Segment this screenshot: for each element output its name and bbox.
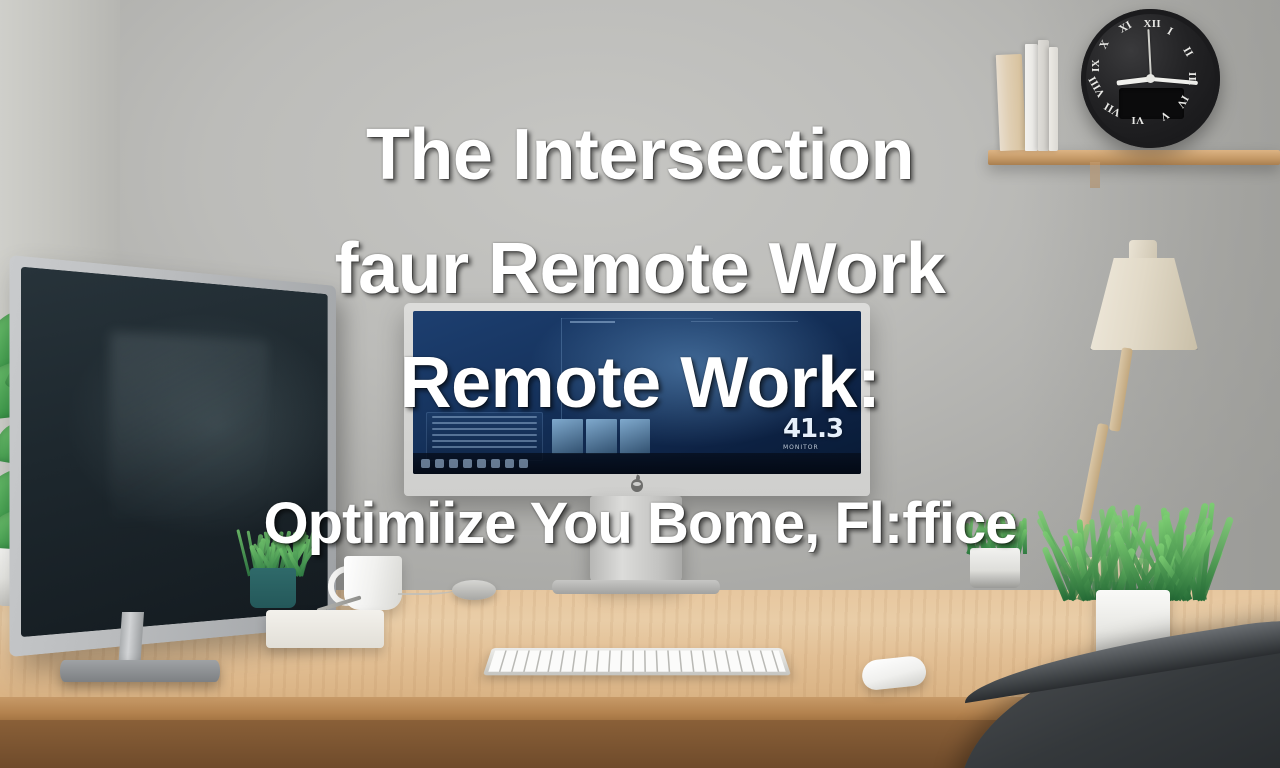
- title-line-1: The Intersection: [0, 116, 1280, 194]
- banner-image: XIIIIIIIIIVVVIVIIVIIIIXXXI 41.3 MONITOR: [0, 0, 1280, 768]
- title-line-4: Optimiize You Bome, Fl:ffice: [0, 492, 1280, 556]
- title-line-2: faur Remote Work: [0, 230, 1280, 308]
- title-line-3: Remote Work:: [0, 344, 1280, 422]
- title-overlay: The Intersection faur Remote Work Remote…: [0, 0, 1280, 768]
